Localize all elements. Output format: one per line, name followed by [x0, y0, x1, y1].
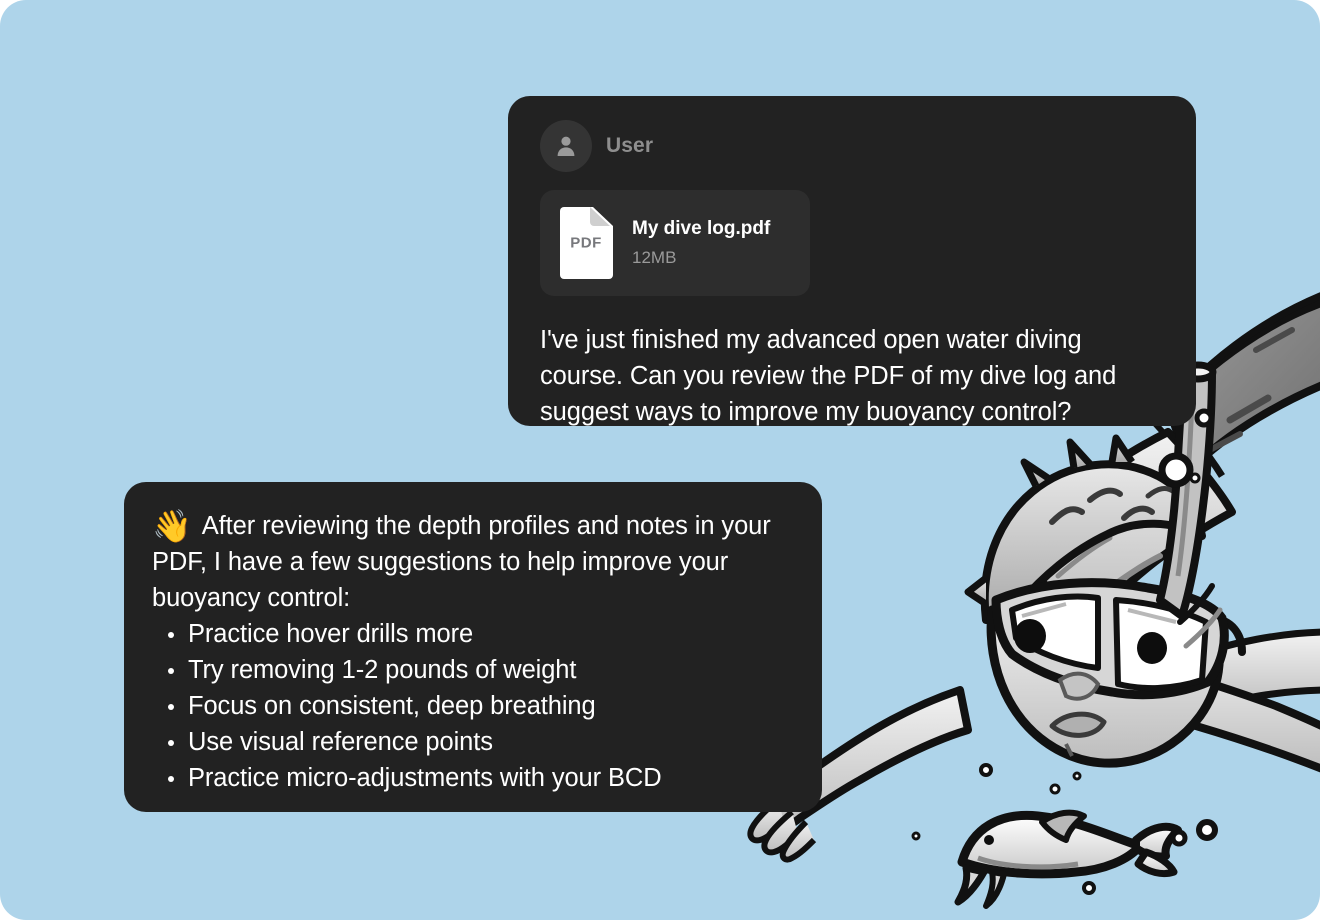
- list-item: Focus on consistent, deep breathing: [152, 688, 792, 724]
- attachment-meta: My dive log.pdf 12MB: [632, 217, 770, 269]
- message-author: User: [606, 134, 653, 158]
- user-message-text: I've just finished my advanced open wate…: [540, 322, 1164, 430]
- list-item: Use visual reference points: [152, 724, 792, 760]
- user-message-bubble: User PDF My dive log.pdf 12MB I've just …: [508, 96, 1196, 426]
- scene: User PDF My dive log.pdf 12MB I've just …: [0, 0, 1320, 920]
- pdf-file-icon: PDF: [558, 207, 616, 279]
- list-item: Practice micro-adjustments with your BCD: [152, 760, 792, 796]
- attachment-card[interactable]: PDF My dive log.pdf 12MB: [540, 190, 810, 296]
- attachment-size: 12MB: [632, 247, 770, 269]
- assistant-intro-text: After reviewing the depth profiles and n…: [152, 512, 771, 612]
- list-item: Try removing 1-2 pounds of weight: [152, 652, 792, 688]
- suggestion-list: Practice hover drills more Try removing …: [152, 616, 792, 796]
- air-bubbles: [913, 386, 1215, 893]
- pdf-icon-label: PDF: [558, 235, 614, 252]
- fish-illustration: [958, 813, 1178, 906]
- list-item: Practice hover drills more: [152, 616, 792, 652]
- waving-hand-icon: 👋: [152, 508, 192, 544]
- user-message-header: User: [540, 120, 1164, 172]
- attachment-name: My dive log.pdf: [632, 217, 770, 242]
- avatar: [540, 120, 592, 172]
- assistant-message-bubble: 👋 After reviewing the depth profiles and…: [124, 482, 822, 812]
- assistant-intro-block: 👋 After reviewing the depth profiles and…: [152, 508, 792, 616]
- assistant-message-body: 👋 After reviewing the depth profiles and…: [152, 508, 792, 796]
- person-icon: [553, 133, 579, 159]
